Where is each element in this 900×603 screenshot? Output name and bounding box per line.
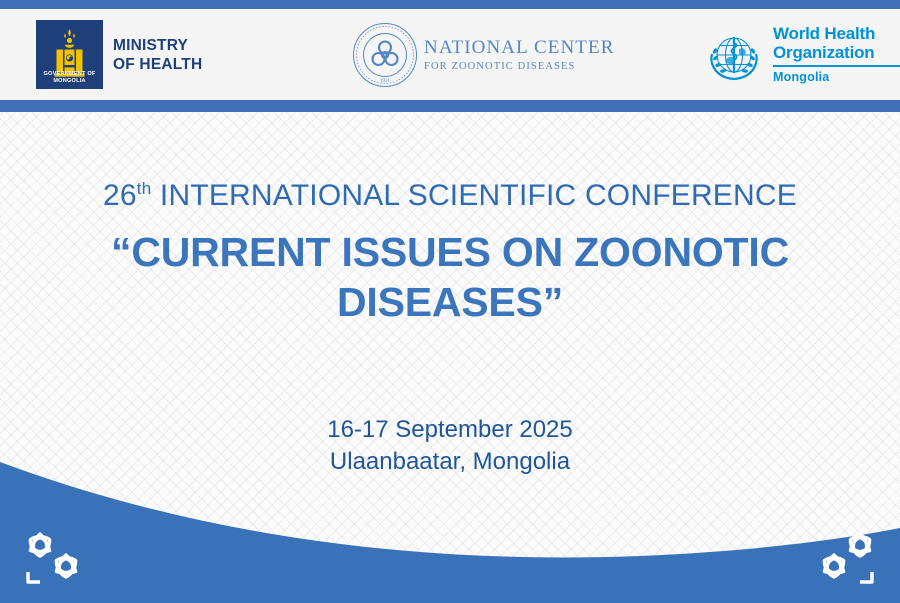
who-divider-rule [773, 65, 900, 67]
who-name-line2: Organization [773, 44, 900, 63]
national-center-name-line2: FOR ZOONOTIC DISEASES [424, 62, 614, 73]
top-accent-bar [0, 0, 900, 9]
who-logo: World Health Organization Mongolia [703, 25, 900, 89]
triquetra-knot-ornament-right [804, 528, 882, 586]
ministry-name: MINISTRY OF HEALTH [113, 36, 202, 74]
who-name: World Health Organization [773, 25, 900, 62]
conference-theme-title: “CURRENT ISSUES ON ZOONOTIC DISEASES” [0, 227, 900, 327]
logo-row: GOVERNMENT OF MONGOLIA MINISTRY OF HEALT… [0, 9, 900, 100]
ministry-of-health-logo: GOVERNMENT OF MONGOLIA MINISTRY OF HEALT… [36, 20, 202, 89]
header-divider-bar [0, 100, 900, 112]
who-emblem-icon [703, 27, 765, 89]
mongolia-state-emblem: GOVERNMENT OF MONGOLIA [36, 20, 103, 89]
emblem-caption-line1: GOVERNMENT OF [36, 71, 103, 78]
national-center-logo: 1931 NATIONAL CENTER FOR ZOONOTIC DISEAS… [352, 22, 614, 88]
national-center-name-line1: NATIONAL CENTER [424, 38, 614, 57]
who-name-line1: World Health [773, 25, 900, 44]
edition-rest: INTERNATIONAL SCIENTIFIC CONFERENCE [151, 179, 797, 212]
conference-theme-line1: “CURRENT ISSUES ON ZOONOTIC [0, 227, 900, 277]
emblem-caption-line2: MONGOLIA [36, 78, 103, 85]
emblem-caption: GOVERNMENT OF MONGOLIA [36, 71, 103, 85]
conference-edition-heading: 26th INTERNATIONAL SCIENTIFIC CONFERENCE [0, 176, 900, 216]
edition-number: 26 [103, 179, 137, 212]
ministry-name-line1: MINISTRY [113, 36, 202, 55]
national-center-name: NATIONAL CENTER FOR ZOONOTIC DISEASES [424, 38, 614, 73]
conference-title-slide: GOVERNMENT OF MONGOLIA MINISTRY OF HEALT… [0, 0, 900, 603]
zoonotic-disease-seal-icon: 1931 [352, 22, 418, 88]
triquetra-knot-ornament-left [18, 528, 96, 586]
title-block: 26th INTERNATIONAL SCIENTIFIC CONFERENCE… [0, 176, 900, 327]
who-name-block: World Health Organization Mongolia [773, 25, 900, 84]
wave-blue [0, 462, 900, 603]
edition-suffix: th [137, 179, 152, 198]
who-country-label: Mongolia [773, 70, 900, 84]
ministry-name-line2: OF HEALTH [113, 55, 202, 74]
conference-theme-line2: DISEASES” [0, 277, 900, 327]
footer-wave [0, 440, 900, 603]
seal-year: 1931 [380, 79, 391, 84]
